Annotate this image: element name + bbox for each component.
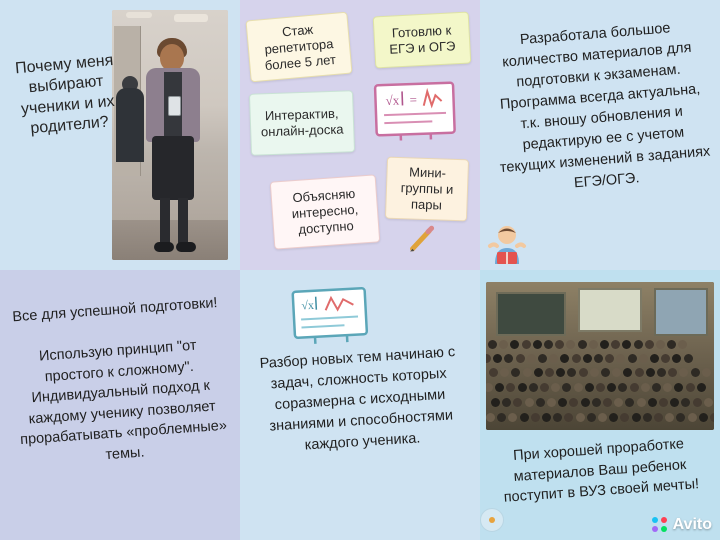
hall-attendee [656, 340, 665, 349]
hall-attendee [540, 383, 549, 392]
svg-text:=: = [409, 92, 417, 107]
svg-text:√x: √x [301, 298, 314, 313]
hall-attendee [603, 398, 612, 407]
hall-attendee [578, 340, 587, 349]
hall-attendee [639, 354, 648, 363]
hall-attendee [684, 354, 693, 363]
hall-attendee [702, 368, 711, 377]
photo-teacher-shoe-left [154, 242, 174, 252]
teacher-photo [112, 10, 228, 260]
svg-text:√x: √x [385, 93, 400, 108]
hall-attendee [637, 398, 646, 407]
photo-teacher-phone [168, 96, 181, 116]
hall-attendee [594, 354, 603, 363]
hall-attendee [516, 354, 525, 363]
card-mini-groups: Мини-группы и пары [385, 157, 469, 222]
hall-attendee [547, 398, 556, 407]
hall-attendee [688, 413, 697, 422]
photo-teacher-leg-left [160, 198, 170, 246]
hall-attendee [579, 368, 588, 377]
hall-attendee [542, 413, 551, 422]
hall-attendee [635, 368, 644, 377]
hall-attendee [634, 340, 643, 349]
hall-attendee [697, 383, 706, 392]
all-for-success-text: Все для успешной подготовки! Использую п… [7, 293, 234, 472]
hall-attendee [643, 413, 652, 422]
hall-attendee [491, 398, 500, 407]
card-experience: Стаж репетитора более 5 лет [245, 12, 352, 83]
hall-window [654, 288, 708, 336]
hall-attendee [650, 354, 659, 363]
hall-attendee [533, 340, 542, 349]
hall-attendee [659, 398, 668, 407]
hall-projector-screen [578, 288, 642, 332]
hall-attendee [686, 383, 695, 392]
developed-materials-text: Разработала большое количество материало… [486, 16, 717, 201]
hall-attendee [572, 354, 581, 363]
photo-teacher-shoe-right [176, 242, 196, 252]
hall-attendee [632, 413, 641, 422]
hall-attendee [531, 413, 540, 422]
hall-attendee [699, 413, 708, 422]
poster-canvas: Почему меня выбирают ученики и их родите… [0, 0, 720, 540]
card-interactive-board: Интерактив, онлайн-доска [249, 90, 355, 156]
hall-attendee [534, 368, 543, 377]
hall-attendee [693, 398, 702, 407]
photo-ceiling-light [174, 14, 208, 22]
hall-attendee [657, 368, 666, 377]
hall-attendee [585, 383, 594, 392]
pencil-icon [406, 222, 438, 256]
photo-teacher-skirt [152, 136, 194, 200]
why-choose-text: Почему меня выбирают ученики и их родите… [5, 50, 130, 142]
hall-attendee [645, 340, 654, 349]
hall-attendee [520, 413, 529, 422]
hall-attendee [522, 340, 531, 349]
student-with-book-icon [484, 222, 530, 268]
badge-dot-icon [489, 517, 495, 523]
photo-ceiling-light-2 [126, 12, 152, 18]
hall-attendee [581, 398, 590, 407]
hall-attendee [523, 368, 532, 377]
hall-attendee [648, 398, 657, 407]
hall-chalkboard [496, 292, 566, 336]
lecture-hall-photo [486, 282, 714, 430]
hall-attendee [646, 368, 655, 377]
hall-attendee [545, 368, 554, 377]
hall-attendee [536, 398, 545, 407]
hall-attendee [654, 413, 663, 422]
photo-teacher-head [160, 44, 184, 71]
hall-attendee [641, 383, 650, 392]
hall-attendee [590, 368, 599, 377]
hall-attendee [691, 368, 700, 377]
card-exam-prep: Готовлю к ЕГЭ и ОГЭ [373, 12, 472, 69]
whiteboard-graph-icon-2: √x [291, 286, 370, 348]
hall-attendee [529, 383, 538, 392]
hall-attendee [583, 354, 592, 363]
hall-attendee [486, 413, 495, 422]
hall-attendee [589, 340, 598, 349]
hall-attendee [574, 383, 583, 392]
hall-attendee [630, 383, 639, 392]
hall-attendee [652, 383, 661, 392]
photo-teacher-leg-right [178, 198, 188, 246]
razbor-text: Разбор новых тем начинаю с задач, сложно… [249, 342, 471, 460]
hall-attendee [525, 398, 534, 407]
hall-attendee [587, 413, 596, 422]
hall-attendee [601, 368, 610, 377]
hall-attendee [488, 340, 497, 349]
hall-attendee [518, 383, 527, 392]
hall-attendee [489, 368, 498, 377]
hall-attendee [704, 398, 713, 407]
badge-circle-icon [480, 508, 504, 532]
avito-watermark: Avito [652, 516, 712, 534]
hall-attendee [538, 354, 547, 363]
hall-attendee [598, 413, 607, 422]
avito-label: Avito [673, 516, 712, 534]
hall-attendee [544, 340, 553, 349]
hall-attendee [592, 398, 601, 407]
photo-floor [112, 220, 228, 260]
hall-attendee [628, 354, 637, 363]
hall-attendee [596, 383, 605, 392]
hall-attendee [710, 413, 714, 422]
hall-attendee [527, 354, 536, 363]
hall-attendee [576, 413, 585, 422]
card-clear-explanation: Объясняю интересно, доступно [270, 174, 380, 249]
whiteboard-graph-icon: √x = [373, 81, 457, 146]
hall-attendee [600, 340, 609, 349]
avito-logo-icon [652, 517, 668, 533]
